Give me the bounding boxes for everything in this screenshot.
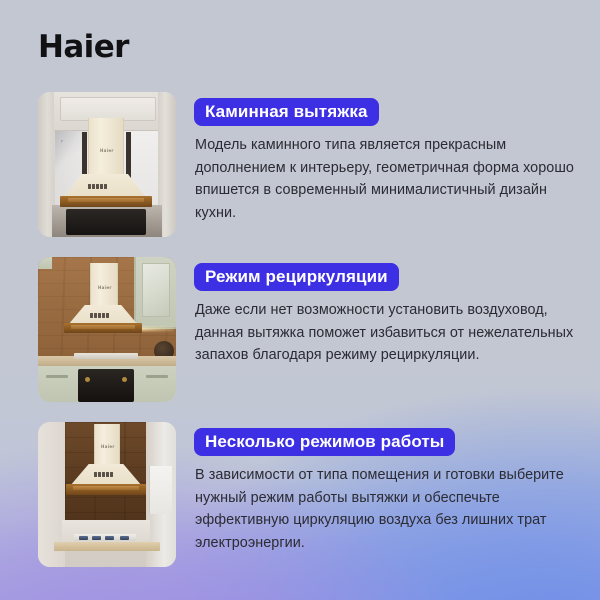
- feature-body-1: Модель каминного типа является прекрасны…: [195, 134, 587, 224]
- window-frame: [149, 466, 172, 514]
- oven: [66, 209, 146, 235]
- oven: [78, 369, 134, 402]
- hood-brand-mark: Haier: [101, 444, 115, 449]
- hood-wood-inner: [71, 325, 135, 329]
- hood-duct: Haier: [88, 118, 124, 174]
- hood-button[interactable]: [102, 313, 105, 318]
- drawer-handle-right[interactable]: [146, 375, 168, 378]
- gas-cooktop: [74, 534, 136, 541]
- feature-badge-2: Режим рециркуляции: [194, 263, 399, 291]
- hood-control-panel: [94, 472, 113, 477]
- product-image-1: Haier: [38, 92, 176, 237]
- product-infographic-page: Haier Haier: [0, 0, 600, 600]
- hood-button[interactable]: [98, 313, 101, 318]
- hood-brand-mark: Haier: [98, 285, 112, 290]
- hood-control-panel: [88, 184, 107, 189]
- hood-button[interactable]: [106, 313, 109, 318]
- hood-duct: Haier: [94, 424, 120, 464]
- feature-badge-3: Несколько режимов работы: [194, 428, 455, 456]
- kitchen-scene-wood-sage: Haier: [38, 257, 176, 402]
- hood-button[interactable]: [98, 472, 101, 477]
- hood-button[interactable]: [88, 184, 91, 189]
- cabinet-left: [38, 257, 52, 269]
- glass-cabinet-right: [134, 257, 176, 329]
- hood-button[interactable]: [96, 184, 99, 189]
- hood-brand-mark: Haier: [100, 148, 114, 153]
- hood-duct: Haier: [90, 263, 118, 305]
- hood-button[interactable]: [100, 184, 103, 189]
- kitchen-scene-dark-wood: Haier: [38, 422, 176, 567]
- hood-button[interactable]: [106, 472, 109, 477]
- burner[interactable]: [92, 536, 101, 540]
- hood-control-panel: [90, 313, 109, 318]
- feature-body-2: Даже если нет возможности установить воз…: [195, 299, 587, 367]
- feature-row-3: Haier: [0, 420, 600, 565]
- hood-button[interactable]: [90, 313, 93, 318]
- hood-button[interactable]: [102, 472, 105, 477]
- oven-knob[interactable]: [85, 377, 90, 382]
- product-image-3: Haier: [38, 422, 176, 567]
- cabinet-glass-door: [142, 263, 170, 317]
- countertop: [54, 542, 160, 551]
- cooktop: [74, 353, 138, 359]
- feature-row-1: Haier Каминная вытяжка Модель каминного: [0, 90, 600, 235]
- oven-knob[interactable]: [122, 377, 127, 382]
- haier-logo-text: Haier: [38, 32, 129, 63]
- haier-logo: Haier: [38, 29, 129, 65]
- feature-row-2: Haier: [0, 255, 600, 400]
- product-image-2: Haier: [38, 257, 176, 402]
- feature-body-3: В зависимости от типа помещения и готовк…: [195, 464, 587, 554]
- hood-wood-inner: [68, 198, 144, 202]
- hood-button[interactable]: [94, 472, 97, 477]
- hood-button[interactable]: [94, 313, 97, 318]
- burner[interactable]: [120, 536, 129, 540]
- burner[interactable]: [105, 536, 114, 540]
- hood-button[interactable]: [110, 472, 113, 477]
- burner[interactable]: [79, 536, 88, 540]
- kitchen-scene-marble: Haier: [38, 92, 176, 237]
- feature-badge-1: Каминная вытяжка: [194, 98, 379, 126]
- hood-button[interactable]: [92, 184, 95, 189]
- drawer-handle-left[interactable]: [46, 375, 68, 378]
- hood-button[interactable]: [104, 184, 107, 189]
- hood-wood-inner: [73, 486, 139, 490]
